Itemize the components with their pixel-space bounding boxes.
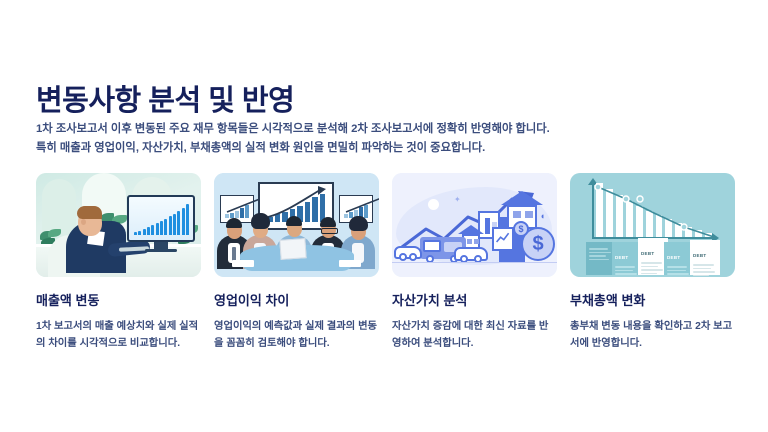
intro-line-2: 특히 매출과 영업이익, 자산가치, 부채총액의 실적 변화 원인을 면밀히 파… <box>36 139 596 158</box>
card-operating-profit-gap[interactable]: 영업이익 차이 영업이익의 예측값과 실제 결과의 변동을 꼼꼼히 검토해야 합… <box>214 173 379 352</box>
debt-trend-line <box>592 183 718 241</box>
debt-document-stack: DEBT DEBT DEBT <box>586 239 722 275</box>
card-row: 매출액 변동 1차 보고서의 매출 예상치와 실제 실적의 차이를 시각적으로 … <box>36 173 732 352</box>
card-title: 부채총액 변화 <box>570 293 735 309</box>
card-title: 자산가치 분석 <box>392 293 557 309</box>
monitor <box>127 195 195 242</box>
card-title: 영업이익 차이 <box>214 293 379 309</box>
monitor-screen <box>129 197 193 240</box>
car-left-icon <box>394 246 422 259</box>
thumbnail-declining-debt-bar-chart-with-document-cards: DEBT DEBT DEBT <box>570 173 735 277</box>
debt-label: DEBT <box>641 251 654 256</box>
chart-monitor-bar-chart <box>134 203 189 235</box>
dollar-coin-small-icon: $ <box>513 221 529 237</box>
sparkle-icon: ✦ <box>454 195 461 204</box>
page-title: 변동사항 분석 및 반영 <box>36 77 294 119</box>
intro-line-1: 1차 조사보고서 이후 변동된 주요 재무 항목들은 시각적으로 분석해 2차 … <box>36 120 596 139</box>
card-revenue-change[interactable]: 매출액 변동 1차 보고서의 매출 예상치와 실제 실적의 차이를 시각적으로 … <box>36 173 201 352</box>
card-description: 1차 보고서의 매출 예상치와 실제 실적의 차이를 시각적으로 비교합니다. <box>36 318 199 352</box>
intro-paragraph: 1차 조사보고서 이후 변동된 주요 재무 항목들은 시각적으로 분석해 2차 … <box>36 120 596 158</box>
card-description: 자산가치 증감에 대한 최신 자료를 반영하여 분석합니다. <box>392 318 555 352</box>
house-small-roof-icon <box>458 225 484 234</box>
held-paper <box>279 238 306 260</box>
debt-label: DEBT <box>667 255 680 260</box>
wall-chart-right-trend-arrow <box>344 186 379 216</box>
debt-label: DEBT <box>693 253 706 258</box>
trend-card-icon <box>492 227 514 251</box>
monitor-base <box>145 249 177 252</box>
table-document-left <box>232 260 254 267</box>
trend-card-line <box>495 230 511 246</box>
card-asset-value-analysis[interactable]: ✦ <box>392 173 557 352</box>
slide-root: 변동사항 분석 및 반영 1차 조사보고서 이후 변동된 주요 재무 항목들은 … <box>0 0 768 432</box>
card-total-debt-change[interactable]: DEBT DEBT DEBT <box>570 173 735 352</box>
card-title: 매출액 변동 <box>36 293 201 309</box>
thumbnail-asset-growth-flat-illustration-houses-cars-coins: ✦ <box>392 173 557 277</box>
thumbnail-business-meeting-illustration-with-growth-charts <box>214 173 379 277</box>
house-large-roof-icon <box>501 191 543 205</box>
person-hair <box>77 206 102 219</box>
thumbnail-businessman-at-desk-with-rising-bar-chart-on-monitor <box>36 173 201 277</box>
money-bag-icon: ◖ <box>540 211 545 221</box>
debt-document-5: DEBT <box>690 240 720 275</box>
debt-label: DEBT <box>615 255 628 260</box>
card-description: 총부채 변동 내용을 확인하고 2차 보고서에 반영합니다. <box>570 318 733 352</box>
car-right-icon <box>454 247 488 261</box>
ground-line <box>392 262 557 264</box>
table-document-right <box>339 260 361 267</box>
card-description: 영업이익의 예측값과 실제 결과의 변동을 꼼꼼히 검토해야 합니다. <box>214 318 377 352</box>
person-ear <box>81 219 86 225</box>
